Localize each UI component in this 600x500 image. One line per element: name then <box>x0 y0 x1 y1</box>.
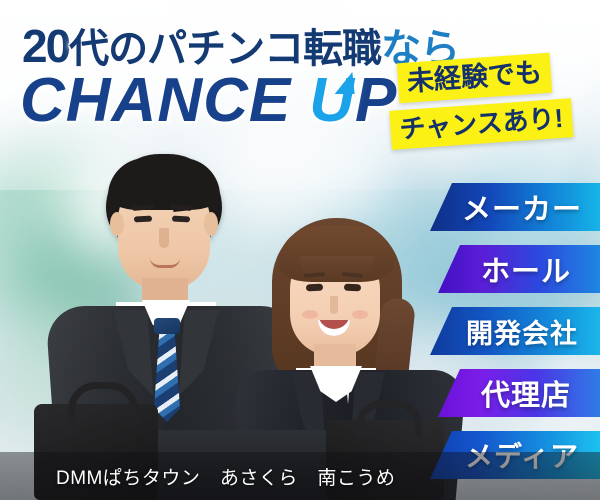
man-nose <box>159 228 169 248</box>
category-tab-agency[interactable]: 代理店 <box>438 369 600 417</box>
man-ear-left <box>110 212 124 236</box>
briefcase-handle <box>68 382 138 423</box>
promo-badge-line-1: 未経験でも <box>397 53 552 104</box>
category-tab-development-company[interactable]: 開発会社 <box>430 307 600 355</box>
man-fringe <box>108 158 220 210</box>
category-tab-hall[interactable]: ホール <box>438 245 600 293</box>
caption-bar: DMMぱちタウン あさくら 南こうめ <box>0 452 600 500</box>
man-ear-right <box>204 212 218 236</box>
woman-cheek-left <box>302 310 318 319</box>
headline-text: 代のパチンコ転職 <box>69 27 381 71</box>
woman-bangs <box>278 226 394 282</box>
caption-credits: DMMぱちタウン あさくら 南こうめ <box>56 463 395 490</box>
logo-letter-u-arrow-icon: U <box>309 70 355 132</box>
banner-ad[interactable]: 20代のパチンコ転職なら CHANCEUP 未経験でも チャンスあり! メーカー… <box>0 0 600 500</box>
headline-number: 20 <box>22 20 69 72</box>
woman-nose <box>330 296 338 314</box>
category-tab-maker[interactable]: メーカー <box>430 183 600 231</box>
woman-eye-right <box>344 284 361 292</box>
briefcase-handle <box>356 400 422 437</box>
brand-logo: CHANCEUP <box>20 70 397 132</box>
category-tab-label: メーカー <box>448 186 582 228</box>
man-eye-right <box>172 216 190 223</box>
logo-word-chance: CHANCE <box>20 66 291 135</box>
man-eye-left <box>134 216 152 223</box>
promo-badge: 未経験でも チャンスあり! <box>398 58 594 137</box>
woman-eye-left <box>306 284 323 292</box>
category-tab-label: ホール <box>467 248 571 290</box>
man-tie-knot <box>154 318 180 334</box>
woman-cheek-right <box>352 310 368 319</box>
category-tab-label: 代理店 <box>467 372 571 414</box>
category-tab-label: 開発会社 <box>452 312 578 351</box>
